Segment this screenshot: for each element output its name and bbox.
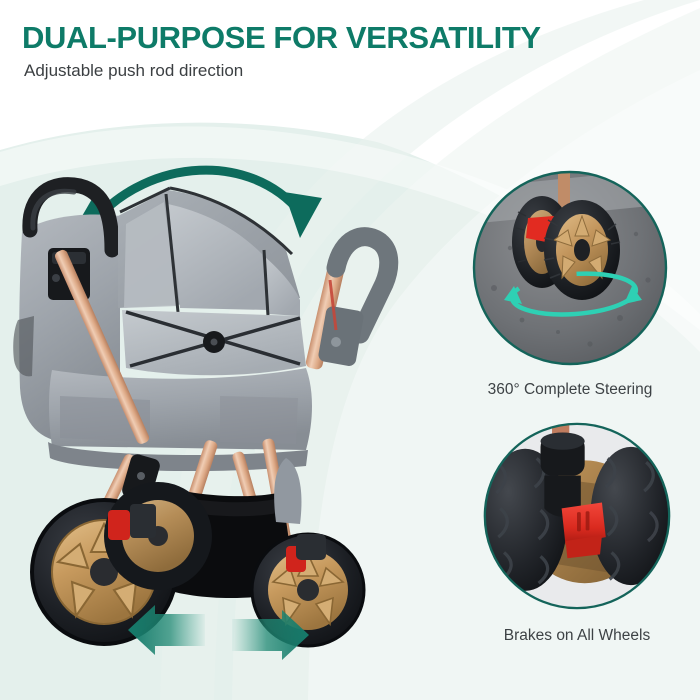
rear-wheel-inner: [104, 482, 212, 590]
front-push-rod: [305, 237, 389, 371]
page-title: DUAL-PURPOSE FOR VERSATILITY: [22, 22, 541, 54]
callout-steering: 360° Complete Steering: [455, 168, 685, 399]
canopy: [118, 188, 300, 316]
pet-stroller-illustration: [0, 120, 470, 680]
front-swivel-wheels-closeup: [470, 168, 670, 368]
product-feature-card: DUAL-PURPOSE FOR VERSATILITY Adjustable …: [0, 0, 700, 700]
steering-circle-image: [470, 168, 670, 368]
callout-brakes: Brakes on All Wheels: [462, 420, 692, 645]
header: DUAL-PURPOSE FOR VERSATILITY Adjustable …: [22, 22, 541, 82]
steering-caption: 360° Complete Steering: [455, 380, 685, 399]
swivel-wheel-right: [544, 200, 620, 300]
red-brake-pedal-closeup: [481, 420, 673, 612]
brake-tab-rear: [108, 510, 130, 540]
page-subtitle: Adjustable push rod direction: [24, 61, 541, 81]
brakes-circle-image: [481, 420, 673, 612]
brakes-caption: Brakes on All Wheels: [462, 626, 692, 645]
main-product-image: [0, 120, 470, 680]
brake-pedal: [562, 503, 606, 559]
side-mesh-window: [122, 310, 306, 375]
